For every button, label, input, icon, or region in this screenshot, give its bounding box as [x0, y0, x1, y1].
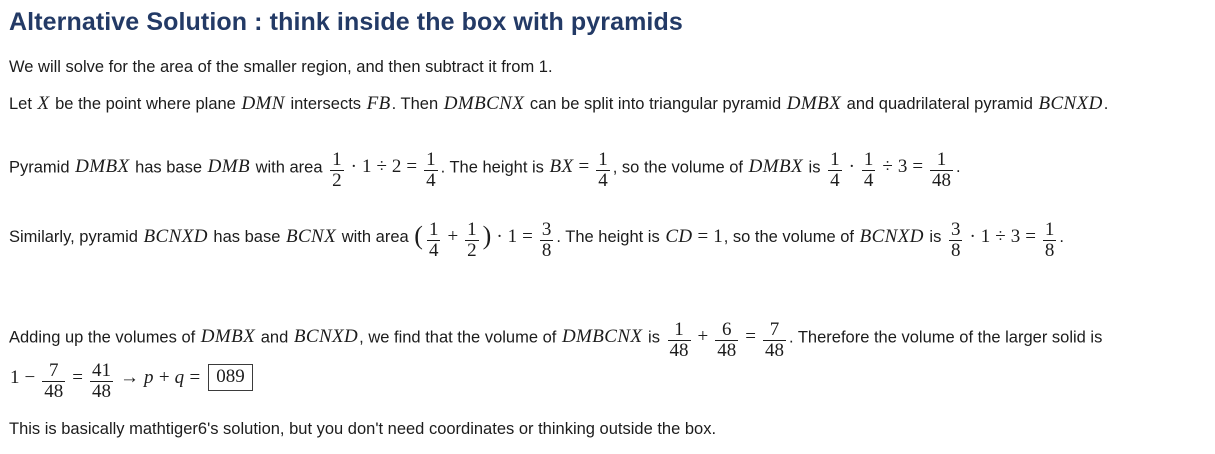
math-segment-fb: FB — [366, 93, 392, 114]
fraction-one-forty-eighth: 148 — [930, 150, 953, 191]
operator-equals: = — [185, 367, 204, 388]
pyr2-text-4: . The height is — [556, 228, 664, 246]
fraction-numerator: 1 — [330, 150, 344, 170]
pyr1-text-6: is — [804, 158, 825, 176]
fraction-numerator: 7 — [42, 361, 65, 381]
fraction-three-eighths: 38 — [540, 220, 554, 261]
pyr1-text-4: . The height is — [441, 158, 549, 176]
operator-divide: ÷ — [372, 156, 390, 177]
left-parenthesis: ( — [413, 221, 424, 250]
expression-total-volume: 148+648=748 — [665, 328, 789, 346]
math-pyramid-bcnxd: BCNXD — [859, 226, 925, 247]
fraction-denominator: 4 — [427, 240, 441, 261]
letx-text-3: intersects — [286, 95, 366, 113]
fraction-numerator: 3 — [949, 220, 963, 240]
fraction-one-fourth: 14 — [862, 150, 876, 191]
fraction-numerator: 3 — [540, 220, 554, 240]
fraction-denominator: 8 — [540, 240, 554, 261]
fraction-numerator: 41 — [90, 361, 113, 381]
closing-text: This is basically mathtiger6's solution,… — [9, 420, 716, 438]
right-parenthesis: ) — [482, 221, 493, 250]
fraction-one-eighth: 18 — [1043, 220, 1057, 261]
fraction-denominator: 8 — [1043, 240, 1057, 261]
paragraph-let-x: Let X be the point where plane DMN inter… — [9, 91, 1205, 118]
fraction-numerator: 7 — [763, 320, 786, 340]
fraction-one-fourth: 14 — [424, 150, 438, 191]
fraction-denominator: 48 — [668, 340, 691, 361]
number-three: 3 — [1010, 226, 1022, 247]
fraction-one-half: 12 — [465, 220, 479, 261]
operator-divide: ÷ — [878, 156, 896, 177]
operator-plus: + — [443, 226, 462, 247]
fraction-forty-one-forty-eighths: 4148 — [90, 361, 113, 402]
letx-text-2: be the point where plane — [51, 95, 241, 113]
operator-plus: + — [694, 326, 713, 347]
pyr1-text-5: , so the volume of — [613, 158, 748, 176]
math-solid-dmbcnx: DMBCNX — [561, 326, 644, 347]
pyr1-text-2: has base — [130, 158, 206, 176]
letx-text-6: and quadrilateral pyramid — [842, 95, 1037, 113]
pyr1-text-1: Pyramid — [9, 158, 74, 176]
fraction-one-fourth: 14 — [596, 150, 610, 191]
fraction-one-fourth: 14 — [828, 150, 842, 191]
fraction-numerator: 1 — [828, 150, 842, 170]
number-two: 2 — [391, 156, 403, 177]
fraction-denominator: 48 — [715, 340, 738, 361]
fraction-denominator: 4 — [828, 170, 842, 191]
adding-text-3: , we find that the volume of — [359, 328, 561, 346]
fraction-denominator: 48 — [90, 381, 113, 402]
number-one: 1 — [980, 226, 992, 247]
operator-dot: · — [347, 156, 361, 177]
expression-area-dmb: 12·1÷2=14 — [327, 158, 440, 176]
fraction-denominator: 48 — [42, 381, 65, 402]
letx-text-7: . — [1104, 95, 1109, 113]
intro-text: We will solve for the area of the smalle… — [9, 58, 553, 76]
expression-height-cd: CD=1 — [664, 228, 723, 246]
fraction-numerator: 1 — [930, 150, 953, 170]
operator-equals: = — [518, 226, 537, 247]
fraction-numerator: 1 — [465, 220, 479, 240]
math-segment-cd: CD — [664, 226, 693, 247]
math-var-p: p — [143, 367, 155, 388]
fraction-numerator: 1 — [1043, 220, 1057, 240]
pyr1-text-3: with area — [251, 158, 327, 176]
fraction-numerator: 1 — [668, 320, 691, 340]
pyr2-text-3: with area — [337, 228, 413, 246]
fraction-denominator: 2 — [465, 240, 479, 261]
expression-volume-bcnxd: 38·1÷3=18. — [946, 228, 1064, 246]
operator-right-arrow: → — [116, 367, 143, 388]
page-title: Alternative Solution : think inside the … — [9, 8, 683, 37]
number-one: 1 — [361, 156, 373, 177]
expression-area-bcnx: (14+12)·1=38 — [413, 228, 556, 246]
math-pyramid-dmbx: DMBX — [74, 156, 130, 177]
operator-minus: − — [21, 367, 40, 388]
math-pyramid-dmbx: DMBX — [786, 93, 842, 114]
math-pyramid-dmbx: DMBX — [200, 326, 256, 347]
adding-text-1: Adding up the volumes of — [9, 328, 200, 346]
math-solid-dmbcnx: DMBCNX — [443, 93, 526, 114]
operator-equals: = — [908, 156, 927, 177]
adding-text-2: and — [256, 328, 293, 346]
operator-equals: = — [741, 326, 760, 347]
pyr2-text-2: has base — [209, 228, 285, 246]
operator-equals: = — [68, 367, 87, 388]
fraction-one-half: 12 — [330, 150, 344, 191]
boxed-answer: 089 — [208, 364, 253, 391]
math-pyramid-bcnxd: BCNXD — [1037, 93, 1103, 114]
fraction-numerator: 1 — [424, 150, 438, 170]
fraction-numerator: 1 — [862, 150, 876, 170]
fraction-denominator: 48 — [763, 340, 786, 361]
fraction-one-fourth: 14 — [427, 220, 441, 261]
fraction-six-forty-eighths: 648 — [715, 320, 738, 361]
expression-height-bx: BX=14 — [549, 158, 613, 176]
pyr1-text-7: . — [956, 158, 961, 176]
pyr2-text-6: is — [925, 228, 946, 246]
number-one: 1 — [9, 367, 21, 388]
fraction-seven-forty-eighths: 748 — [42, 361, 65, 402]
operator-dot: · — [492, 226, 506, 247]
math-pyramid-bcnxd: BCNXD — [143, 226, 209, 247]
math-segment-bx: BX — [549, 156, 575, 177]
pyr2-text-7: . — [1059, 228, 1064, 246]
adding-text-5: . Therefore the volume of the larger sol… — [789, 328, 1102, 346]
expression-final-answer: 1−748=4148→p+q=089 — [9, 369, 253, 387]
math-base-bcnx: BCNX — [285, 226, 337, 247]
operator-equals: = — [694, 226, 713, 247]
fraction-denominator: 8 — [949, 240, 963, 261]
fraction-numerator: 6 — [715, 320, 738, 340]
fraction-numerator: 1 — [596, 150, 610, 170]
paragraph-intro: We will solve for the area of the smalle… — [9, 56, 1205, 79]
math-base-dmb: DMB — [207, 156, 251, 177]
paragraph-closing: This is basically mathtiger6's solution,… — [9, 418, 1205, 441]
fraction-denominator: 4 — [424, 170, 438, 191]
solution-page: Alternative Solution : think inside the … — [0, 0, 1215, 454]
operator-divide: ÷ — [991, 226, 1009, 247]
fraction-three-eighths: 38 — [949, 220, 963, 261]
operator-dot: · — [845, 156, 859, 177]
expression-volume-dmbx: 14·14÷3=148. — [825, 158, 961, 176]
number-one: 1 — [712, 226, 724, 247]
math-pyramid-dmbx: DMBX — [748, 156, 804, 177]
operator-equals: = — [1021, 226, 1040, 247]
letx-text-5: can be split into triangular pyramid — [525, 95, 785, 113]
pyr2-text-1: Similarly, pyramid — [9, 228, 143, 246]
fraction-seven-forty-eighths: 748 — [763, 320, 786, 361]
fraction-denominator: 4 — [596, 170, 610, 191]
operator-equals: = — [402, 156, 421, 177]
fraction-denominator: 4 — [862, 170, 876, 191]
operator-equals: = — [575, 156, 594, 177]
letx-text-1: Let — [9, 95, 37, 113]
number-three: 3 — [897, 156, 909, 177]
adding-text-4: is — [643, 328, 664, 346]
fraction-numerator: 1 — [427, 220, 441, 240]
number-one: 1 — [507, 226, 519, 247]
math-plane-dmn: DMN — [240, 93, 285, 114]
paragraph-pyramid-dmbx: Pyramid DMBX has base DMB with area 12·1… — [9, 150, 1205, 191]
paragraph-adding-volumes: Adding up the volumes of DMBX and BCNXD,… — [9, 320, 1205, 402]
math-var-q: q — [174, 367, 186, 388]
paragraph-pyramid-bcnxd: Similarly, pyramid BCNXD has base BCNX w… — [9, 216, 1205, 261]
operator-plus: + — [155, 367, 174, 388]
operator-dot: · — [965, 226, 979, 247]
math-var-x: X — [37, 93, 51, 114]
fraction-one-forty-eighth: 148 — [668, 320, 691, 361]
fraction-denominator: 2 — [330, 170, 344, 191]
letx-text-4: . Then — [392, 95, 443, 113]
pyr2-text-5: , so the volume of — [724, 228, 859, 246]
fraction-denominator: 48 — [930, 170, 953, 191]
math-pyramid-bcnxd: BCNXD — [293, 326, 359, 347]
